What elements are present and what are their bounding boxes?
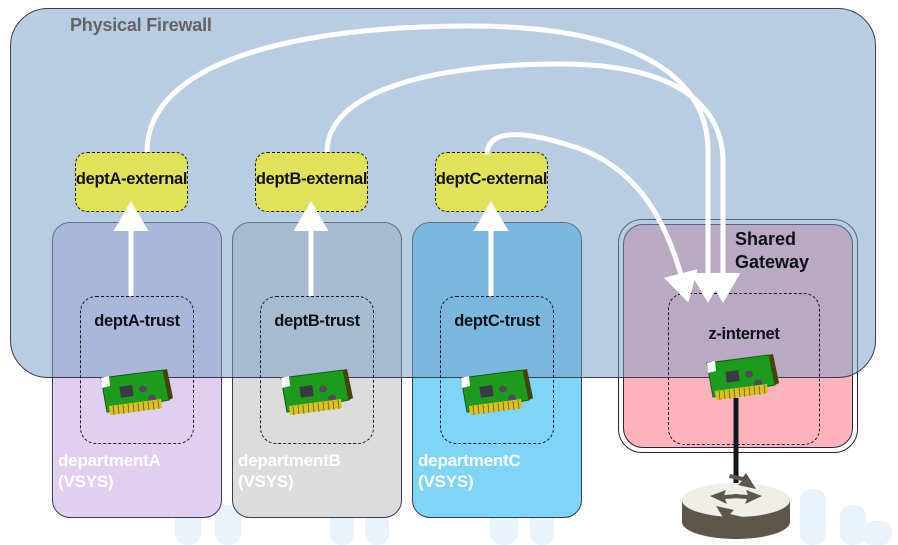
diagram-canvas: Physical Firewall departmentA (VSYS) dep… [0, 0, 898, 545]
zone-label-deptC-trust: deptC-trust [440, 312, 554, 331]
vsys-label-line1: departmentC [418, 450, 892, 471]
shared-gateway-label-line2: Gateway [735, 251, 809, 274]
zone-label-deptC-external: deptC-external [396, 170, 587, 189]
shared-gateway-label-line1: Shared [735, 228, 809, 251]
zone-label-deptB-trust: deptB-trust [260, 312, 374, 331]
vsys-label-departmentC: departmentC (VSYS) [418, 450, 892, 492]
shared-gateway-label: Shared Gateway [735, 228, 809, 274]
vsys-label-line2: (VSYS) [418, 471, 892, 492]
zone-label-deptA-trust: deptA-trust [80, 312, 194, 331]
zone-label-deptB-external: deptB-external [216, 170, 407, 189]
zone-label-deptA-external: deptA-external [36, 170, 227, 189]
zone-z-internet[interactable] [668, 293, 820, 445]
zone-label-z-internet: z-internet [668, 325, 820, 344]
physical-firewall-label: Physical Firewall [70, 15, 212, 36]
